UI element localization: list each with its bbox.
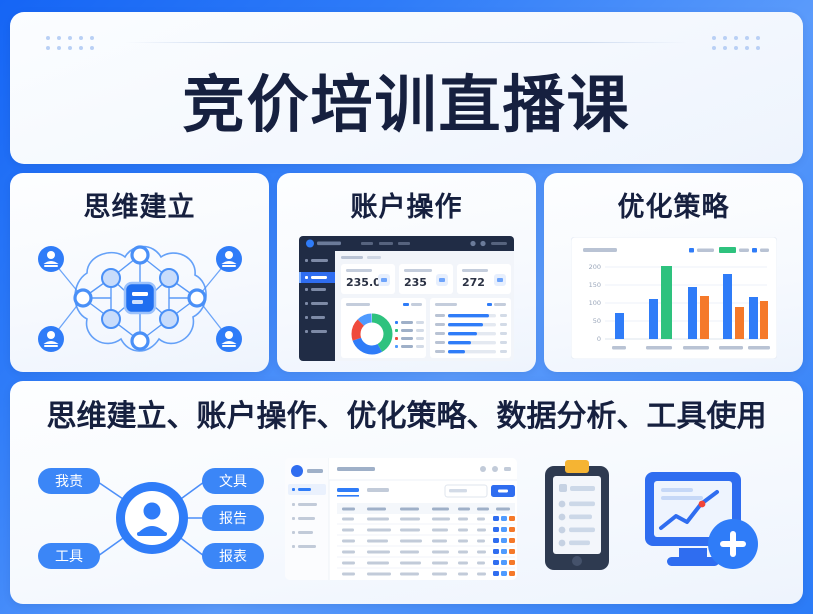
mindmap-svg: 我责 工具 文具 报告 xyxy=(26,456,281,581)
table-logo-icon xyxy=(291,465,303,477)
header-divider xyxy=(126,42,687,43)
feature-card-account[interactable]: 账户操作 xyxy=(277,173,536,372)
dot-grid-right xyxy=(712,36,767,56)
mindmap-node: 报告 xyxy=(202,505,264,531)
bottom-icons-svg xyxy=(521,456,791,581)
person-badge-icon xyxy=(38,246,64,272)
feature-card-title: 优化策略 xyxy=(618,185,730,224)
svg-text:50: 50 xyxy=(592,317,600,325)
add-badge-icon xyxy=(708,519,758,569)
bottom-card: 思维建立、账户操作、优化策略、数据分析、工具使用 xyxy=(10,381,803,604)
chart-title xyxy=(583,248,617,252)
feature-card-title: 账户操作 xyxy=(351,185,463,224)
bottom-icons xyxy=(521,456,791,581)
mindmap-node-label: 我责 xyxy=(55,474,83,490)
dashboard-logo-icon xyxy=(306,239,314,247)
person-badge-icon xyxy=(216,326,242,352)
mindmap-node-label: 报告 xyxy=(219,511,247,527)
table-page-title xyxy=(337,467,375,471)
gear-icon xyxy=(470,240,475,245)
tab-all-accounts xyxy=(337,488,359,492)
mindmap-node-label: 报表 xyxy=(219,549,247,565)
svg-text:150: 150 xyxy=(588,281,600,289)
bar-chart-svg: 200 150 100 50 0 xyxy=(571,237,777,359)
mindmap-node: 工具 xyxy=(38,543,100,569)
tab-active-accounts xyxy=(367,488,389,492)
bottom-headline: 思维建立、账户操作、优化策略、数据分析、工具使用 xyxy=(18,391,795,435)
table-panel-mockup xyxy=(285,458,517,580)
mindmap-node-label: 文具 xyxy=(219,474,247,490)
svg-text:235.0: 235.0 xyxy=(346,276,381,289)
network-diagram xyxy=(10,224,269,372)
svg-text:200: 200 xyxy=(588,263,600,271)
user-icon xyxy=(144,503,161,520)
dot-grid-left xyxy=(46,36,101,56)
table-panel-svg xyxy=(285,458,517,580)
page-title: 竞价培训直播课 xyxy=(10,54,803,144)
clipboard-checklist-icon xyxy=(545,460,609,570)
svg-text:272: 272 xyxy=(462,276,485,289)
poster-root: 竞价培训直播课 思维建立 xyxy=(0,0,813,614)
network-diagram-svg xyxy=(25,233,255,363)
dashboard-mockup-svg: 235.0 235 xyxy=(299,236,514,361)
dashboard-mockup: 235.0 235 xyxy=(277,224,536,372)
bottom-art-row: 我责 工具 文具 报告 xyxy=(18,441,795,596)
feature-card-title: 思维建立 xyxy=(84,185,196,224)
feature-cards-row: 思维建立 xyxy=(10,173,803,372)
person-badge-icon xyxy=(216,246,242,272)
gear-icon xyxy=(480,466,486,472)
header-card: 竞价培训直播课 xyxy=(10,12,803,164)
mindmap-node: 我责 xyxy=(38,468,100,494)
mindmap-node: 文具 xyxy=(202,468,264,494)
mindmap-diagram: 我责 工具 文具 报告 xyxy=(26,456,281,581)
svg-text:235: 235 xyxy=(404,276,427,289)
bar-chart-mockup: 200 150 100 50 0 xyxy=(544,224,803,372)
svg-text:100: 100 xyxy=(588,299,600,307)
svg-text:0: 0 xyxy=(596,335,600,343)
person-badge-icon xyxy=(38,326,64,352)
bell-icon xyxy=(480,240,485,245)
feature-card-optimization[interactable]: 优化策略 200 xyxy=(544,173,803,372)
mindmap-node: 报表 xyxy=(202,543,264,569)
feature-card-thinking[interactable]: 思维建立 xyxy=(10,173,269,372)
logout-icon xyxy=(504,467,511,471)
bell-icon xyxy=(492,466,498,472)
mindmap-node-label: 工具 xyxy=(55,549,83,565)
